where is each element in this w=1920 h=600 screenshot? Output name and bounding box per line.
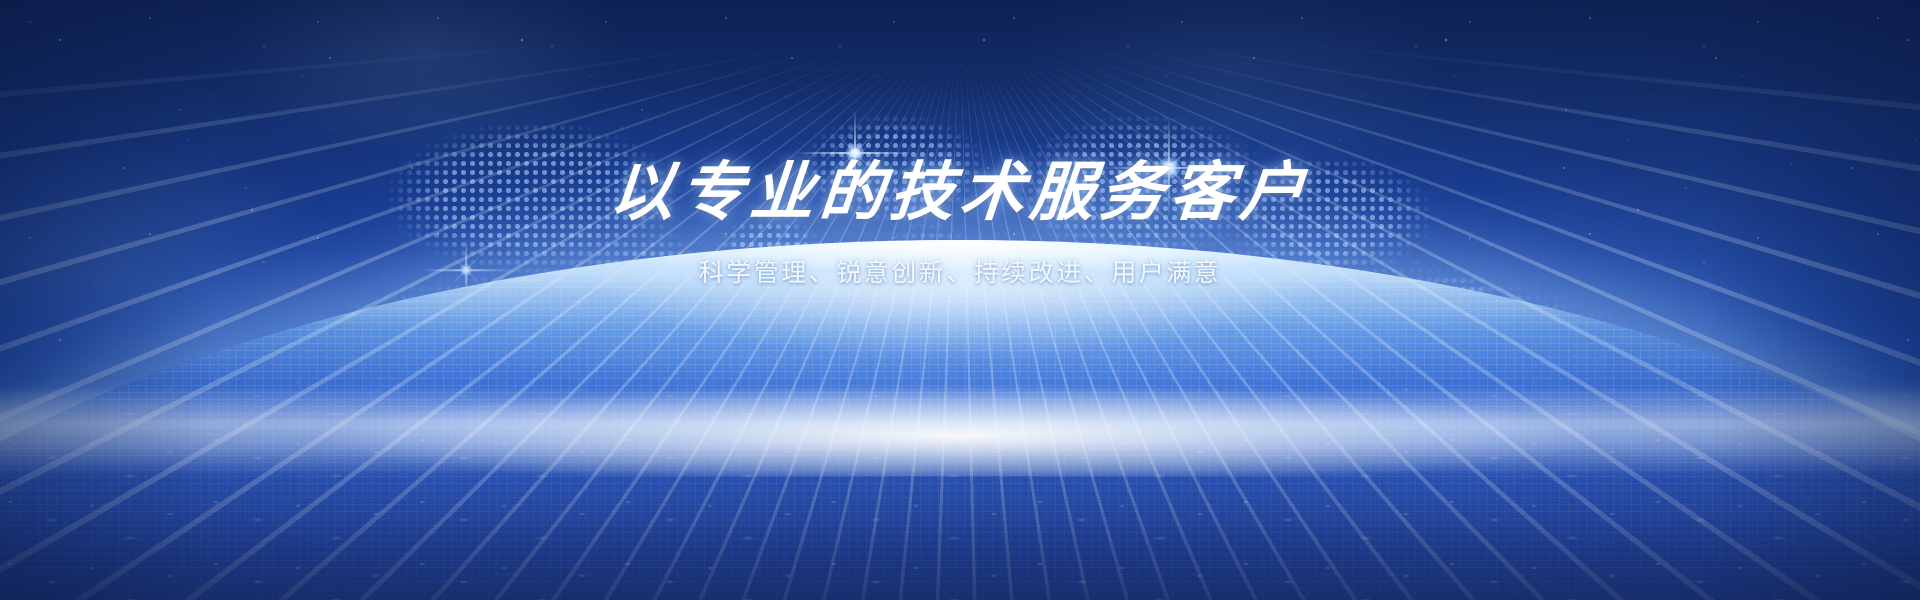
flare-ray-vertical — [1168, 116, 1170, 220]
flare-ray-diagonal-1 — [1144, 143, 1193, 192]
flare-ray-diagonal-1 — [834, 132, 876, 174]
hero-banner: 以专业的技术服务客户 科学管理、锐意创新、持续改进、用户满意 — [0, 0, 1920, 600]
flare-ray-diagonal-2 — [450, 254, 482, 286]
flare-ray-horizontal — [795, 152, 915, 154]
lens-flare-star-center-icon — [1094, 93, 1244, 243]
flare-ray-diagonal-1 — [450, 254, 482, 286]
flare-ray-vertical — [854, 110, 856, 196]
lens-flare-star-left-icon — [790, 88, 920, 218]
flare-core — [460, 264, 472, 276]
banner-headline: 以专业的技术服务客户 — [607, 160, 1313, 227]
flare-core — [1158, 157, 1180, 179]
flare-ray-diagonal-2 — [1144, 143, 1193, 192]
flare-ray-horizontal — [1099, 167, 1239, 169]
flare-core — [846, 144, 864, 162]
earth-horizon-sphere — [0, 240, 1920, 600]
flare-ray-diagonal-2 — [834, 132, 876, 174]
flare-ray-horizontal — [421, 269, 511, 271]
